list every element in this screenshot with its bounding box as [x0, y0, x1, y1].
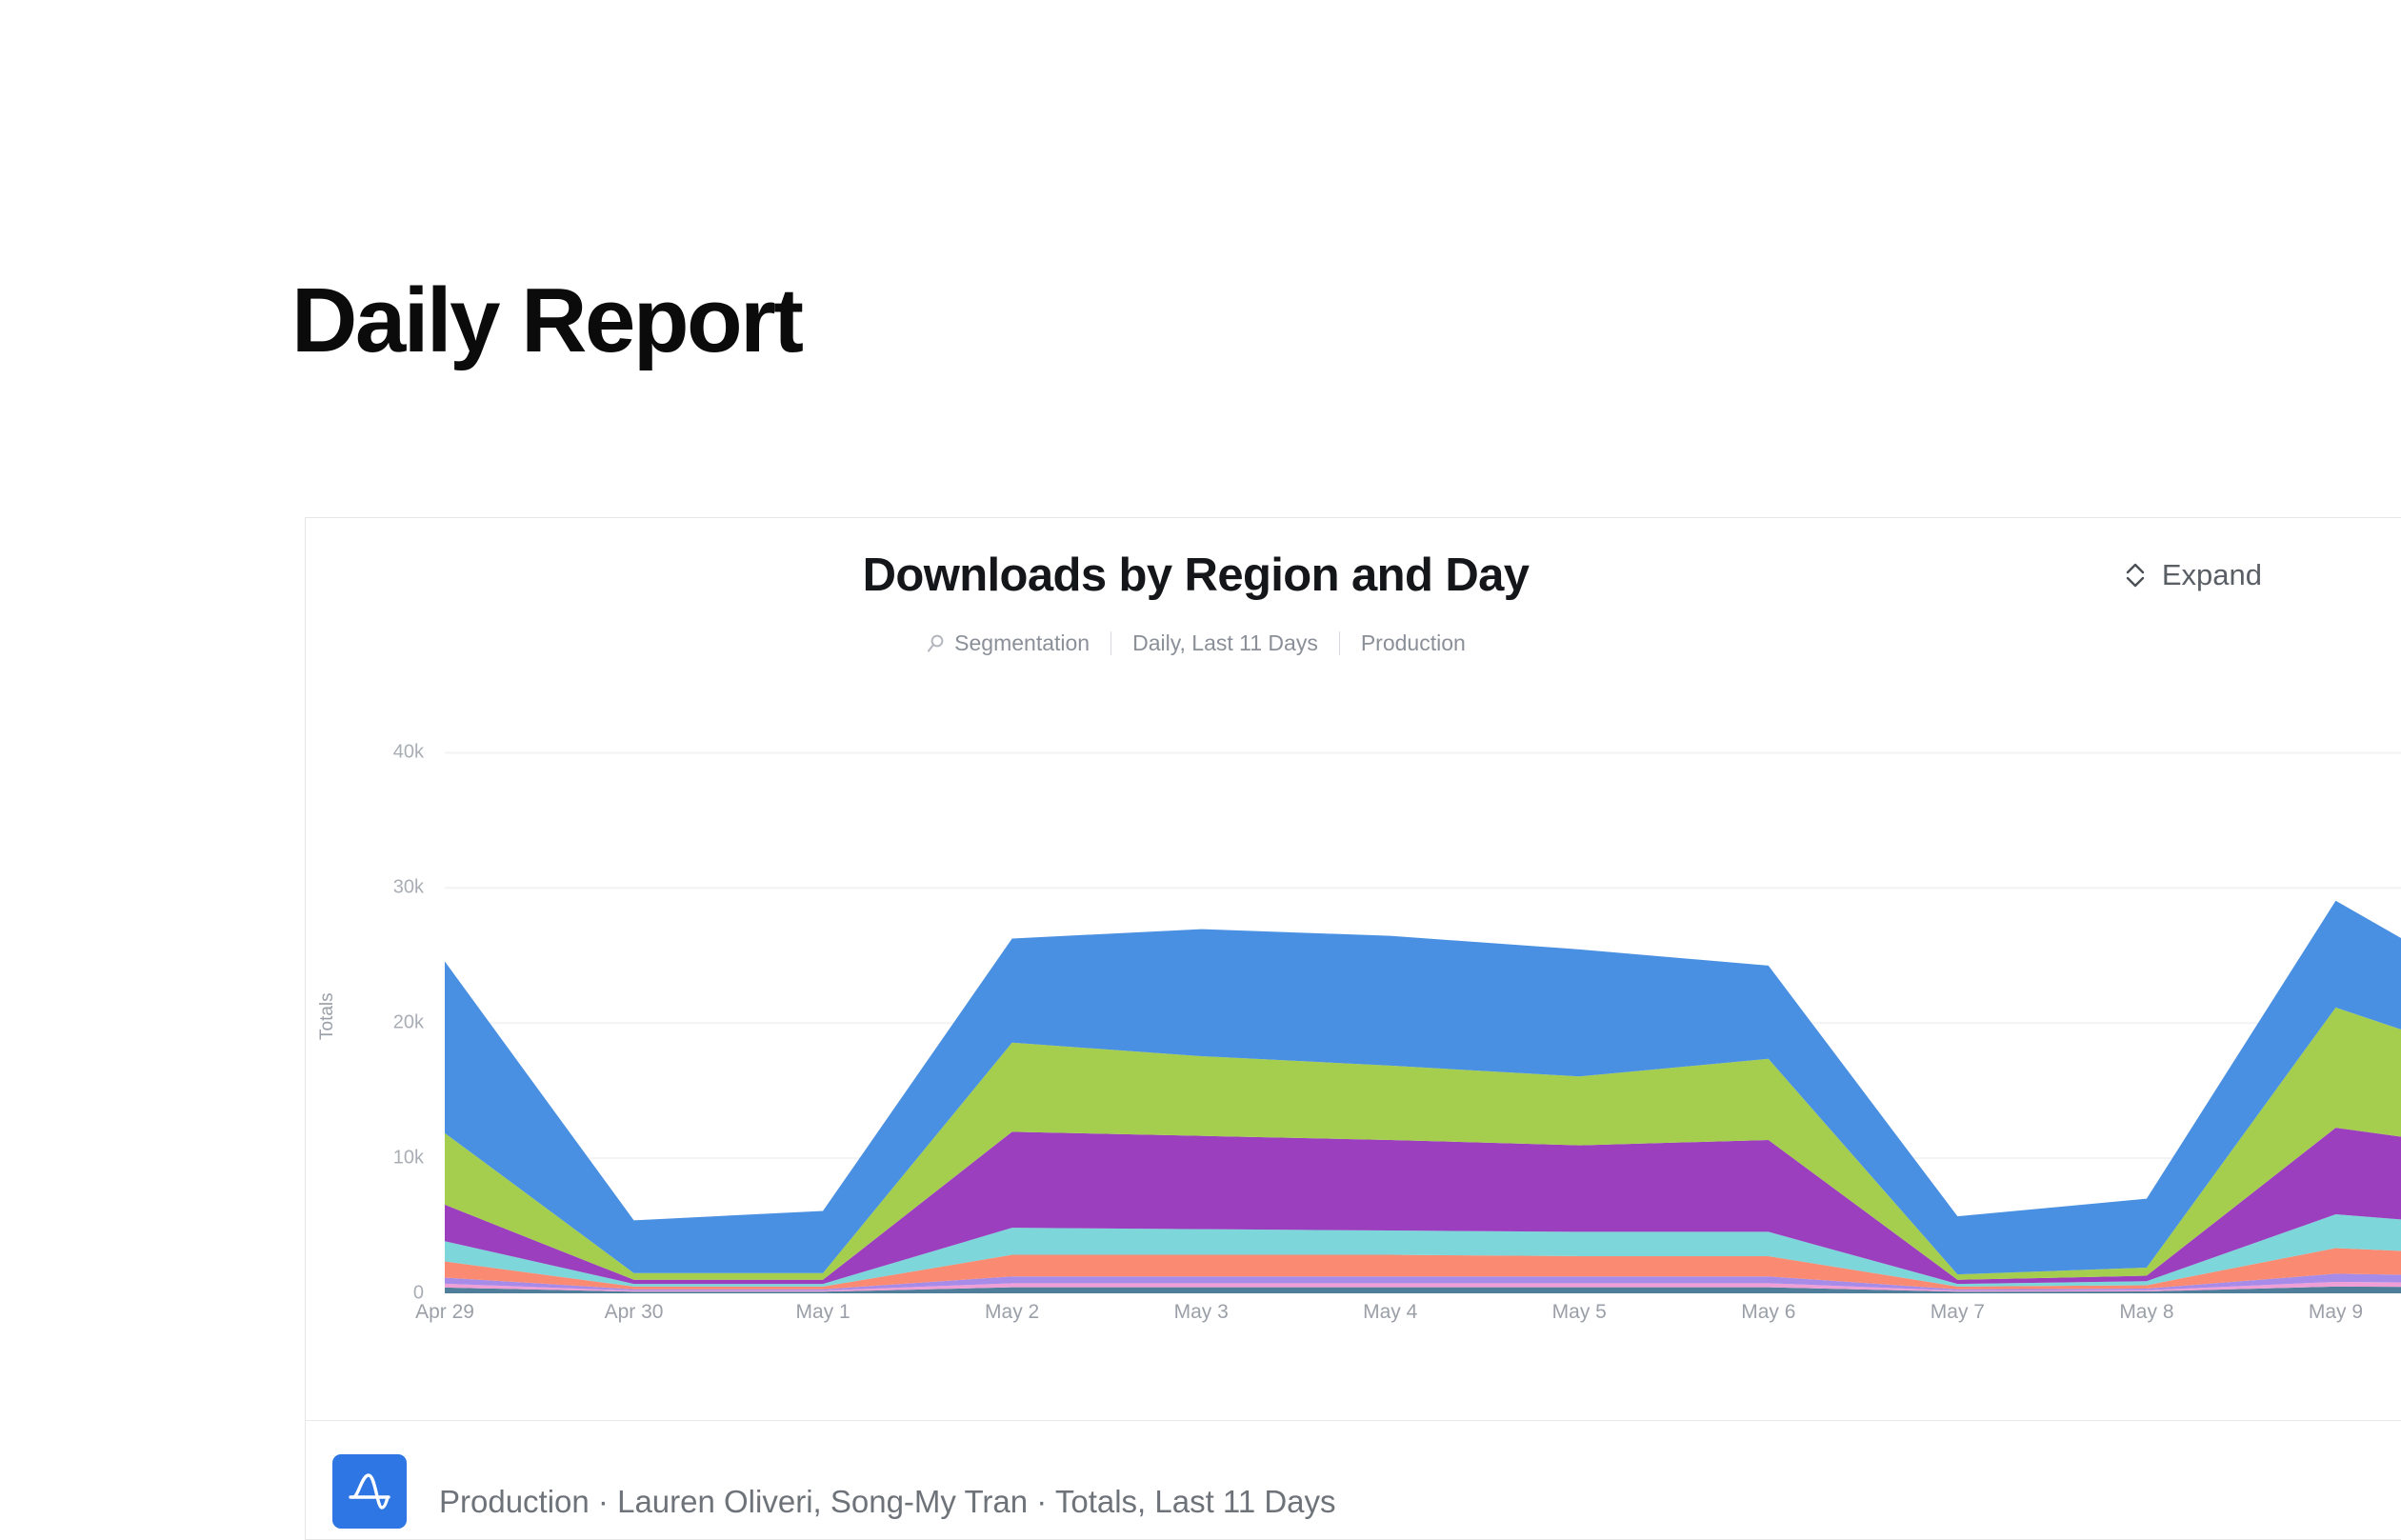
x-tick-label: Apr 30 — [605, 1301, 664, 1324]
x-tick-label: May 4 — [1363, 1301, 1417, 1324]
chart-header: Downloads by Region and Day Segmentation… — [306, 518, 2401, 726]
x-tick-label: May 7 — [1931, 1301, 1985, 1324]
page-title: Daily Report — [291, 273, 801, 370]
card-footer: Production · Lauren Oliveri, Song-My Tra… — [306, 1421, 2401, 1540]
expand-button[interactable]: Expand — [2123, 558, 2262, 592]
segmentation-label: Segmentation — [954, 630, 1090, 656]
stacked-area-chart[interactable] — [445, 726, 2401, 1293]
amplitude-logo-icon — [332, 1454, 407, 1529]
segmentation-icon — [926, 633, 946, 653]
y-tick-label: 40k — [393, 742, 424, 764]
chart-subtitle: Segmentation Daily, Last 11 Days Product… — [306, 630, 2401, 656]
x-tick-label: May 3 — [1174, 1301, 1229, 1324]
chart-plot-area: Totals 010k20k30k40k Apr 29Apr 30May 1Ma… — [306, 726, 2401, 1383]
chart-card: Downloads by Region and Day Segmentation… — [305, 517, 2401, 1540]
x-tick-label: May 8 — [2119, 1301, 2173, 1324]
y-axis-tick-labels: 010k20k30k40k — [306, 726, 439, 1293]
segmentation-group: Segmentation — [926, 630, 1090, 656]
x-tick-label: May 1 — [795, 1301, 850, 1324]
subtitle-separator-2 — [1339, 631, 1340, 655]
interval-label: Daily, Last 11 Days — [1132, 630, 1318, 656]
x-axis-tick-labels: Apr 29Apr 30May 1May 2May 3May 4May 5May… — [445, 1301, 2401, 1358]
expand-label: Expand — [2162, 558, 2262, 592]
x-tick-label: May 5 — [1552, 1301, 1607, 1324]
page-root: Daily Report Downloads by Region and Day… — [0, 0, 2401, 1540]
y-tick-label: 10k — [393, 1148, 424, 1170]
y-tick-label: 30k — [393, 877, 424, 899]
y-tick-label: 20k — [393, 1012, 424, 1034]
x-tick-label: May 6 — [1741, 1301, 1795, 1324]
x-tick-label: Apr 29 — [415, 1301, 474, 1324]
project-label: Production — [1361, 630, 1466, 656]
footer-meta-text: Production · Lauren Oliveri, Song-My Tra… — [439, 1484, 1336, 1520]
x-tick-label: May 9 — [2309, 1301, 2363, 1324]
chart-title: Downloads by Region and Day — [306, 549, 2401, 602]
x-tick-label: May 2 — [985, 1301, 1039, 1324]
expand-chevrons-icon — [2123, 561, 2148, 590]
subtitle-separator-1 — [1110, 631, 1111, 655]
